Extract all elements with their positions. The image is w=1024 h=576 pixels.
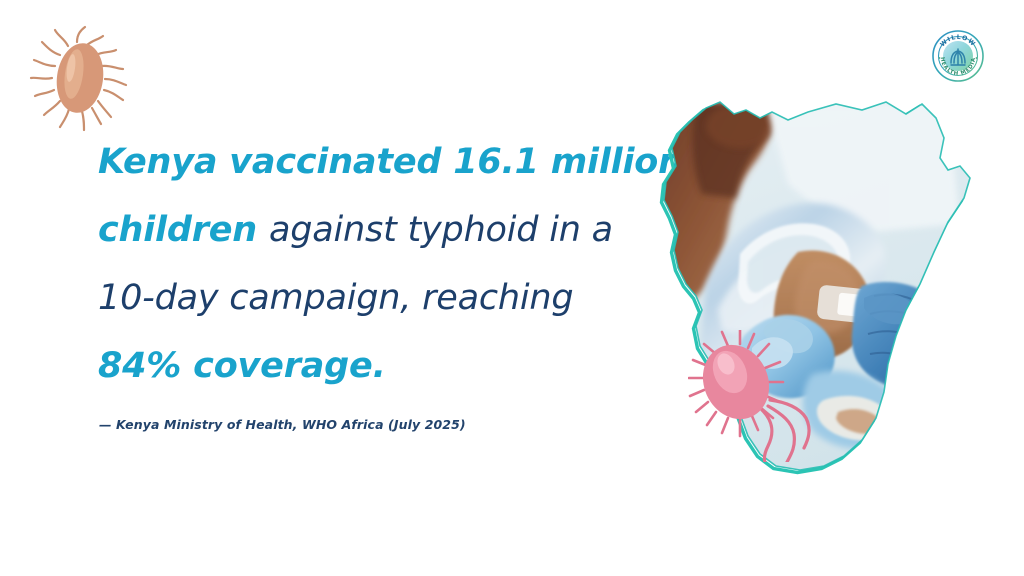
quote-line-2-accent: children (98, 210, 269, 250)
attribution-line: — Kenya Ministry of Health, WHO Africa (… (99, 417, 466, 432)
quote-line-1: Kenya vaccinated 16.1 million (98, 128, 658, 196)
quote-text-block: Kenya vaccinated 16.1 million children a… (98, 128, 658, 400)
willow-health-media-logo[interactable]: WILLOW HEALTH MEDIA (930, 28, 986, 84)
quote-line-3: 10-day campaign, reaching (98, 264, 658, 332)
quote-line-3-navy: 10-day campaign, reaching (98, 278, 573, 318)
quote-line-2-navy: against typhoid in a (269, 210, 613, 250)
quote-line-2: children against typhoid in a (98, 196, 658, 264)
quote-line-4-accent: 84% coverage. (98, 346, 386, 386)
quote-line-1-accent: Kenya vaccinated 16.1 million (98, 142, 683, 182)
quote-line-4: 84% coverage. (98, 332, 658, 400)
tan-bacterium-icon (24, 24, 136, 136)
infographic-canvas: Kenya vaccinated 16.1 million children a… (0, 0, 1024, 576)
pink-bacterium-icon (688, 330, 820, 462)
